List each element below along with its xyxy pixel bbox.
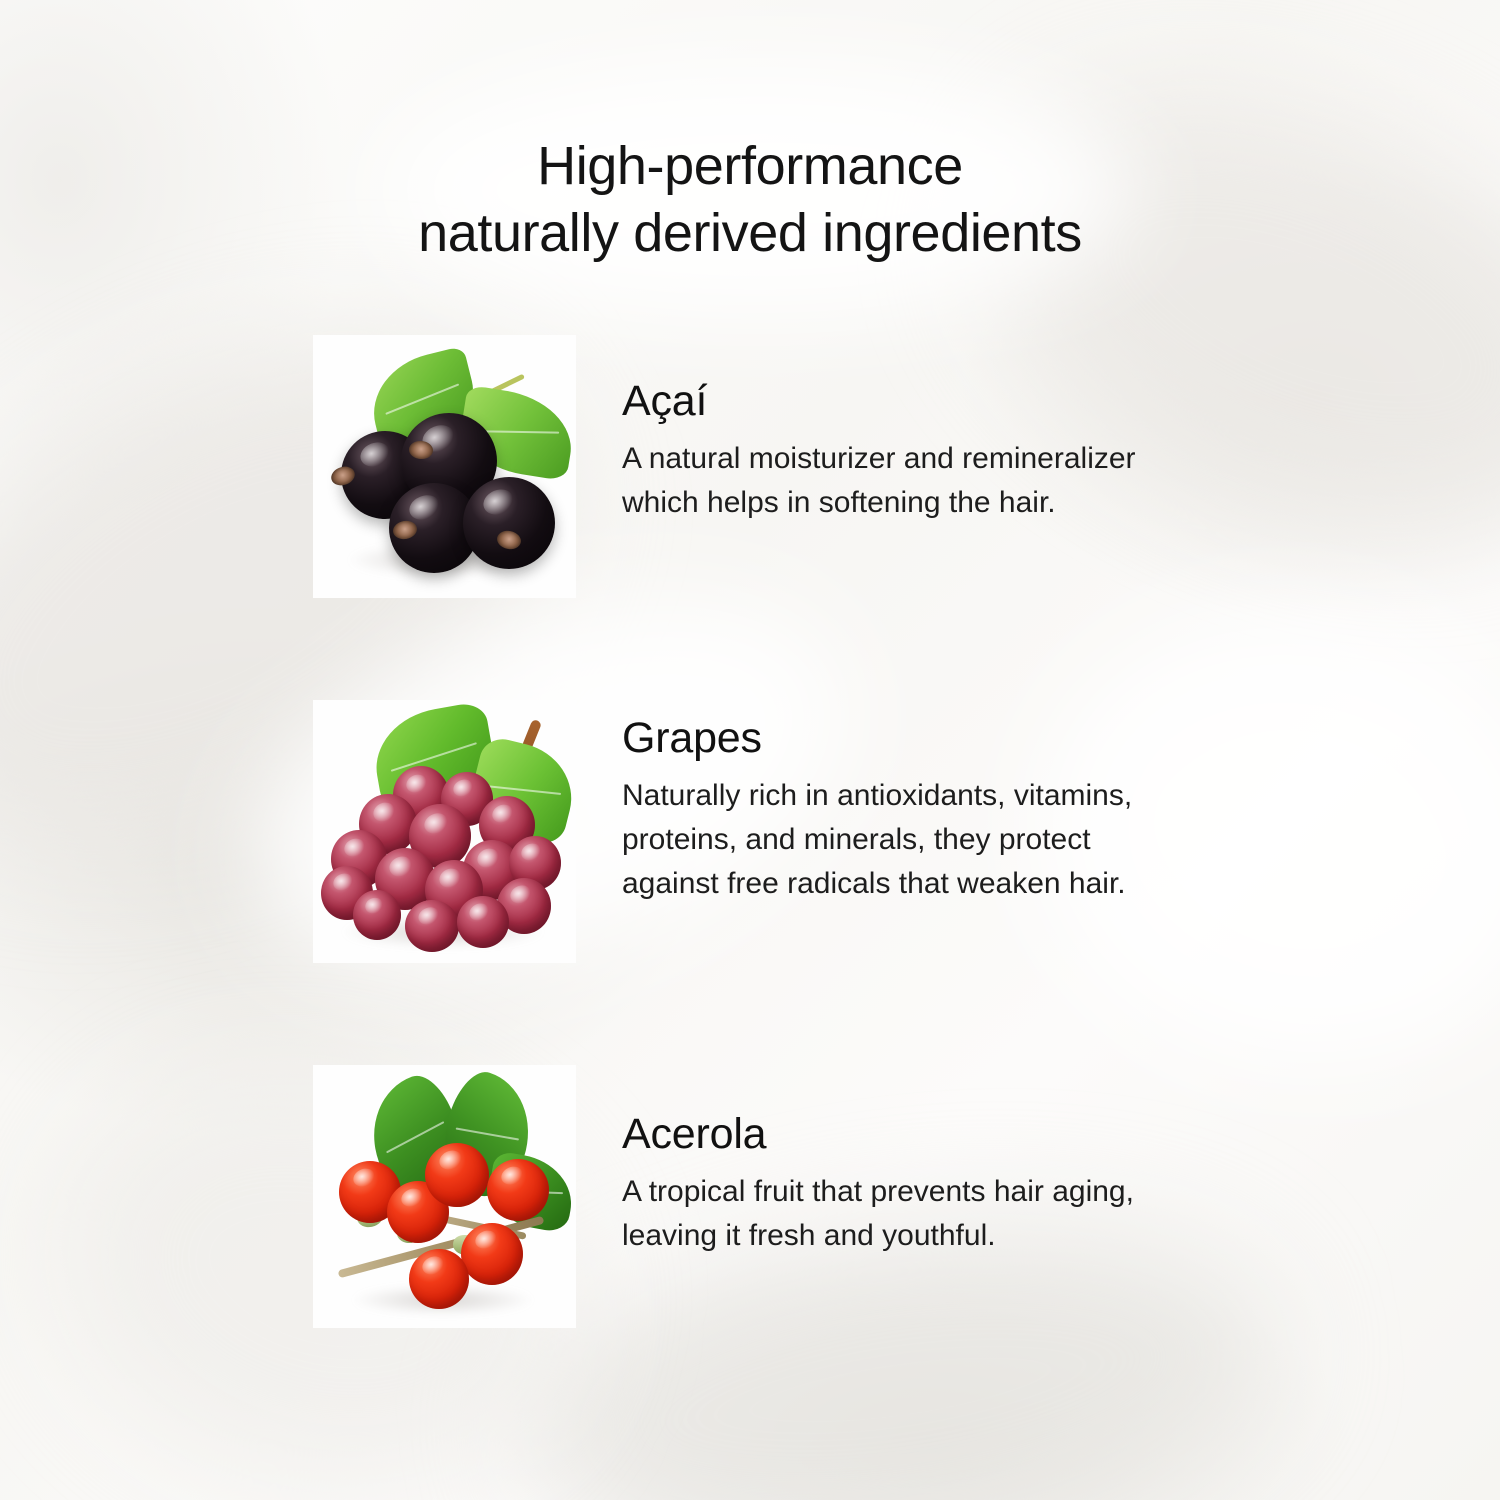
acai-image-tile xyxy=(313,335,576,598)
page-title: High-performance naturally derived ingre… xyxy=(0,133,1500,267)
grapes-image-tile xyxy=(313,700,576,963)
acai-text-block: Açaí A natural moisturizer and remineral… xyxy=(622,380,1312,525)
acerola-cherries-photo xyxy=(313,1065,576,1328)
grape-berry xyxy=(353,890,401,940)
acerola-image-tile xyxy=(313,1065,576,1328)
acai-berry xyxy=(463,477,555,569)
ingredient-name-acai: Açaí xyxy=(622,380,1312,423)
acerola-berry xyxy=(461,1223,523,1285)
acerola-berry xyxy=(487,1159,549,1221)
acerola-berry xyxy=(409,1249,469,1309)
ingredient-name-grapes: Grapes xyxy=(622,717,1312,760)
ingredients-infographic: High-performance naturally derived ingre… xyxy=(0,0,1500,1500)
ingredient-row-grapes: Grapes Naturally rich in antioxidants, v… xyxy=(313,700,1313,964)
ingredient-description-grapes: Naturally rich in antioxidants, vitamins… xyxy=(622,774,1312,906)
grapes-text-block: Grapes Naturally rich in antioxidants, v… xyxy=(622,717,1312,906)
ingredient-row-acerola: Acerola A tropical fruit that prevents h… xyxy=(313,1065,1313,1329)
ingredient-description-acerola: A tropical fruit that prevents hair agin… xyxy=(622,1170,1312,1258)
red-grapes-cluster-photo xyxy=(313,700,576,963)
acerola-text-block: Acerola A tropical fruit that prevents h… xyxy=(622,1113,1312,1258)
ingredient-description-acai: A natural moisturizer and remineralizer … xyxy=(622,437,1312,525)
ingredient-name-acerola: Acerola xyxy=(622,1113,1312,1156)
ingredient-row-acai: Açaí A natural moisturizer and remineral… xyxy=(313,335,1313,599)
acai-berries-photo xyxy=(313,335,576,598)
acerola-berry xyxy=(425,1143,489,1207)
grape-berry xyxy=(457,896,509,948)
grape-berry xyxy=(405,900,459,952)
